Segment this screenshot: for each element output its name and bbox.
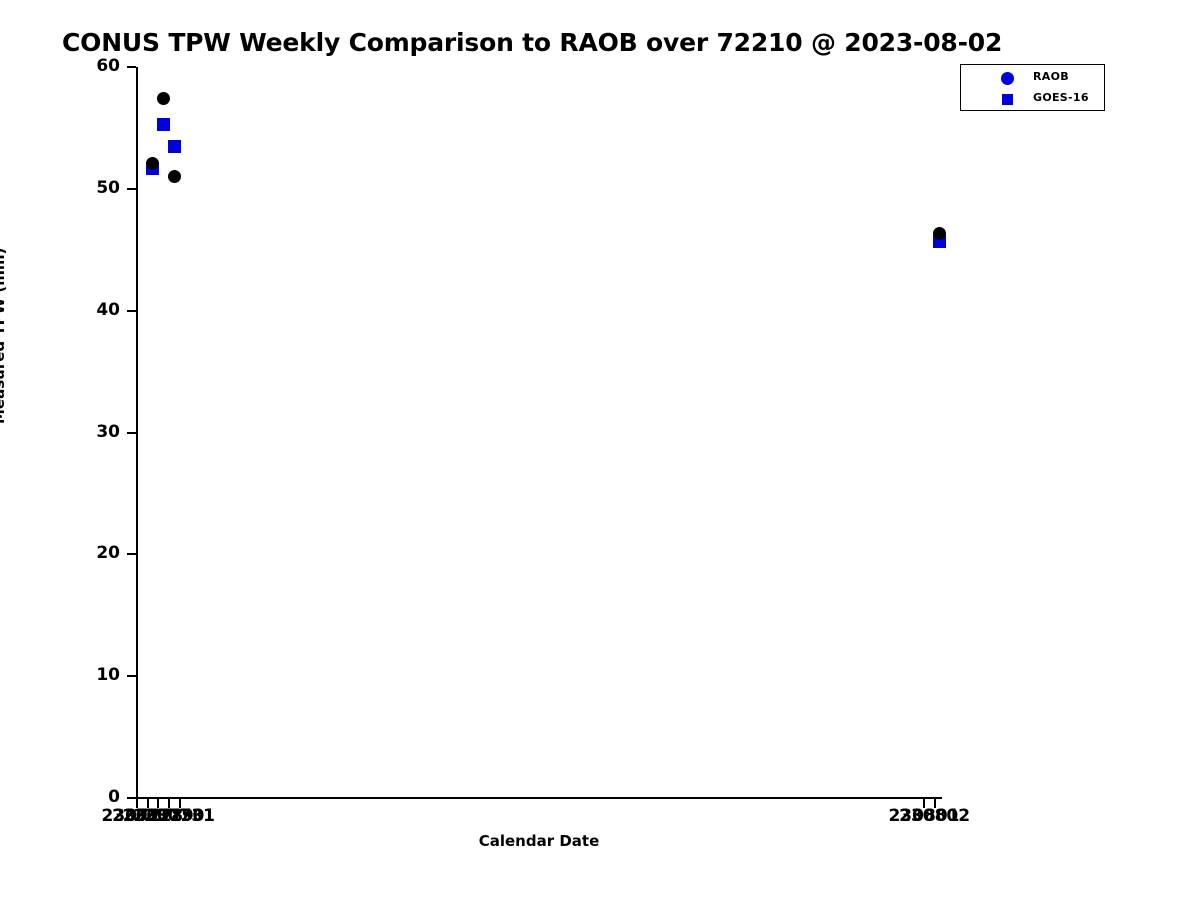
data-point-goes-16 <box>168 140 181 153</box>
legend-marker-swatch <box>1002 94 1013 105</box>
y-axis-tick-label: 0 <box>0 787 120 807</box>
legend-item-raob[interactable]: RAOB <box>961 68 1104 88</box>
legend-item-label: GOES-16 <box>1033 91 1089 104</box>
x-axis-tick-label: 230802 <box>875 806 995 826</box>
page-title: CONUS TPW Weekly Comparison to RAOB over… <box>62 28 1002 57</box>
chart-figure: CONUS TPW Weekly Comparison to RAOB over… <box>0 0 1200 900</box>
data-point-raob <box>157 92 170 105</box>
legend-square-icon <box>997 89 1017 109</box>
y-axis-tick-label: 60 <box>0 56 120 76</box>
legend-circle-icon <box>997 68 1017 88</box>
y-axis-tick-label: 30 <box>0 422 120 442</box>
legend-item-label: RAOB <box>1033 70 1069 83</box>
y-axis-tick-mark <box>127 553 136 555</box>
y-axis-tick-mark <box>127 66 136 68</box>
y-axis-tick-mark <box>127 797 136 799</box>
x-axis-tick-label: 230731 <box>120 806 240 826</box>
y-axis-tick-mark <box>127 188 136 190</box>
y-axis-label: Measured TPW (mm) <box>0 247 8 423</box>
legend-marker-swatch <box>1001 72 1014 85</box>
y-axis-tick-mark <box>127 432 136 434</box>
plot-area <box>137 67 941 798</box>
y-axis-tick-mark <box>127 310 136 312</box>
x-axis-label: Calendar Date <box>37 832 1041 850</box>
data-point-raob <box>168 170 181 183</box>
legend-item-goes-16[interactable]: GOES-16 <box>961 89 1104 109</box>
y-axis-tick-label: 20 <box>0 543 120 563</box>
data-point-goes-16 <box>157 118 170 131</box>
chart-legend: RAOBGOES-16 <box>960 64 1105 111</box>
y-axis-tick-label: 10 <box>0 665 120 685</box>
y-axis-tick-mark <box>127 675 136 677</box>
y-axis-tick-label: 50 <box>0 178 120 198</box>
y-axis-tick-label: 40 <box>0 300 120 320</box>
